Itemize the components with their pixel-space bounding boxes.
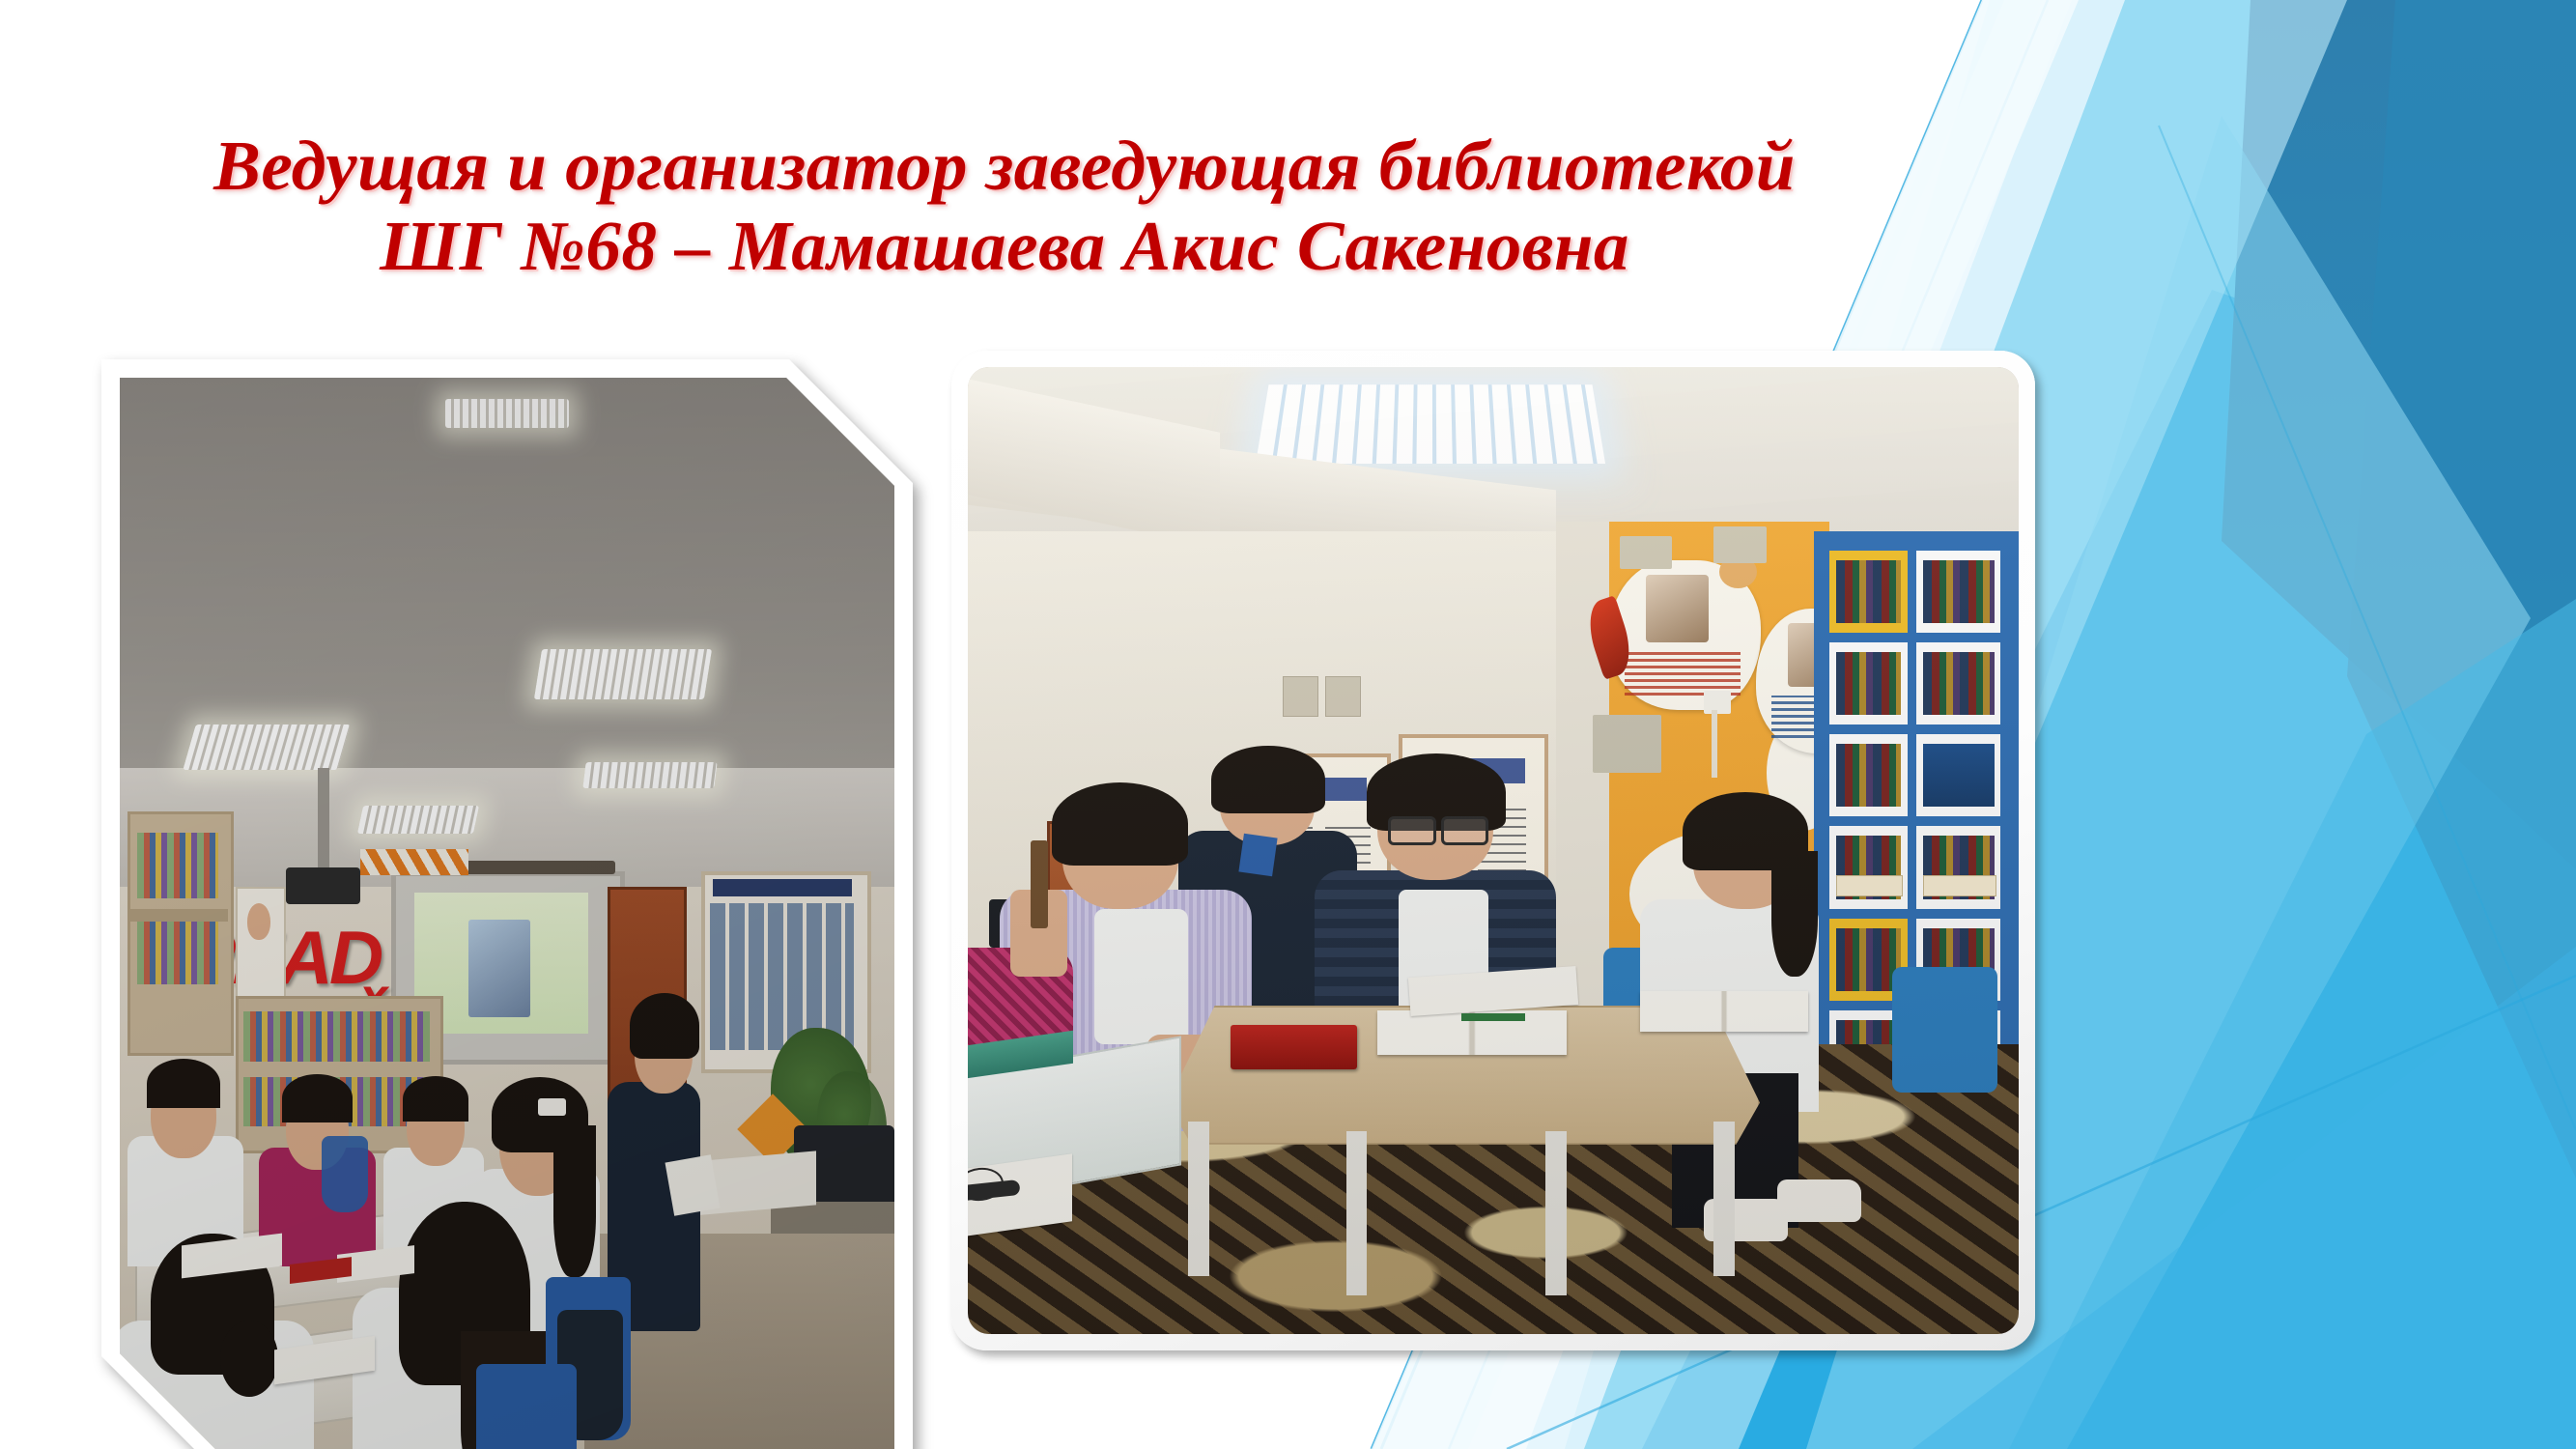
left-scene-classroom: READ x — [120, 378, 894, 1449]
photo-right-reflection — [951, 1358, 2035, 1449]
photo-left-frame: READ x — [101, 359, 913, 1449]
photo-left-image: READ x — [120, 378, 894, 1449]
right-scene-library — [968, 367, 2019, 1334]
photo-right-frame — [951, 351, 2035, 1350]
slide-canvas: Ведущая и организатор заведующая библиот… — [0, 0, 2576, 1449]
title-line-2: ШГ №68 – Мамашаева Акис Сакеновна — [116, 206, 1893, 286]
photo-right[interactable] — [951, 351, 2035, 1350]
photo-right-image — [968, 367, 2019, 1334]
title-line-1: Ведущая и организатор заведующая библиот… — [116, 126, 1893, 206]
slide-title: Ведущая и организатор заведующая библиот… — [116, 126, 1893, 286]
photo-left[interactable]: READ x — [101, 359, 913, 1449]
